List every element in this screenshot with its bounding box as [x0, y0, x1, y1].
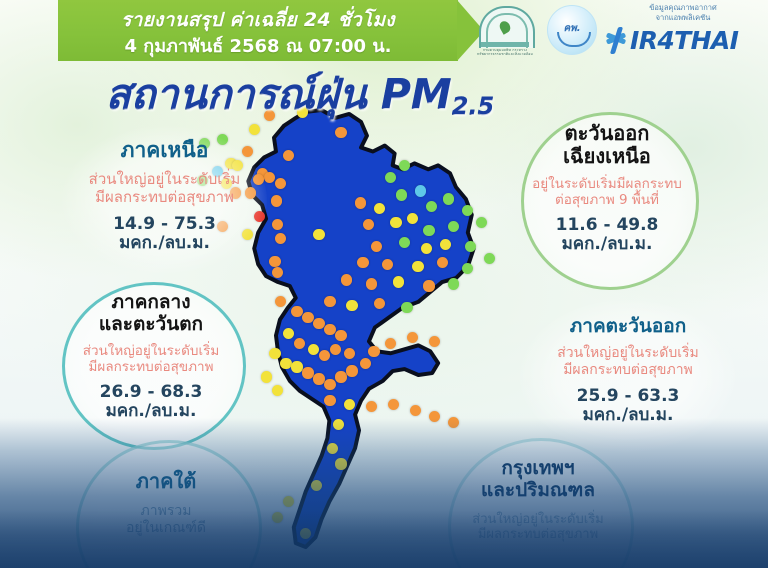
station-dot [360, 358, 371, 369]
east-value-range: 25.9 - 63.3 [518, 387, 738, 406]
northeast-description: อยู่ในระดับเริ่มมีผลกระทบ ต่อสุขภาพ 9 พื… [521, 176, 693, 208]
station-dot [324, 296, 335, 307]
air4thai-logo: IR4THAI [604, 26, 760, 56]
station-dot [462, 263, 473, 274]
station-dot [313, 373, 324, 384]
station-dot [291, 361, 302, 372]
region-panel-northeast: ตะวันออก เฉียงเหนือ อยู่ในระดับเริ่มมีผล… [521, 122, 693, 254]
station-dot [335, 458, 346, 469]
north-description: ส่วนใหญ่อยู่ในระดับเริ่ม มีผลกระทบต่อสุข… [62, 170, 267, 206]
northeast-value-range: 11.6 - 49.8 [521, 216, 693, 235]
ministry-logo-icon: กรมควบคุมมลพิษ กระทรวงทรัพยากรธรรมชาติแล… [477, 4, 533, 54]
air4thai-subtitle-line2: จากแอพพลิเคชัน [608, 13, 758, 23]
northeast-heading: ตะวันออก เฉียงเหนือ [521, 122, 693, 168]
station-dot [443, 193, 454, 204]
logo-group: กรมควบคุมมลพิษ กระทรวงทรัพยากรธรรมชาติแล… [459, 0, 764, 62]
station-dot [346, 365, 357, 376]
north-heading: ภาคเหนือ [62, 138, 267, 162]
station-dot [308, 344, 319, 355]
station-dot [366, 401, 377, 412]
page-title-subscript: 2.5 [452, 92, 495, 120]
north-value-unit: มคก./ลบ.ม. [62, 234, 267, 253]
bangkok-heading-line1: กรุงเทพฯ [440, 458, 636, 480]
air4thai-subtitle-line1: ข้อมูลคุณภาพอากาศ [608, 3, 758, 13]
region-panel-east: ภาคตะวันออก ส่วนใหญ่อยู่ในระดับเริ่ม มีผ… [518, 316, 738, 426]
central-west-heading-line1: ภาคกลาง [57, 292, 245, 314]
station-dot [269, 256, 280, 267]
bangkok-heading: กรุงเทพฯ และปริมณฑล [440, 458, 636, 502]
station-dot [280, 358, 291, 369]
station-dot [368, 346, 379, 357]
station-dot [335, 127, 346, 138]
bangkok-desc-line1: ส่วนใหญ่อยู่ในระดับเริ่ม [440, 512, 636, 528]
station-dot [401, 302, 412, 313]
station-dot [335, 330, 346, 341]
ministry-logo-caption: กรมควบคุมมลพิษ กระทรวงทรัพยากรธรรมชาติแล… [477, 48, 533, 56]
south-description: ภาพรวม อยู่ในเกณฑ์ดี [70, 503, 262, 537]
station-dot [261, 371, 272, 382]
station-dot [344, 399, 355, 410]
region-panel-bangkok: กรุงเทพฯ และปริมณฑล ส่วนใหญ่อยู่ในระดับเ… [440, 458, 636, 543]
report-banner: รายงานสรุป ค่าเฉลี่ย 24 ชั่วโมง 4 กุมภาพ… [58, 0, 458, 61]
station-dot [484, 253, 495, 264]
north-desc-line2: มีผลกระทบต่อสุขภาพ [62, 188, 267, 206]
station-dot [393, 276, 404, 287]
south-desc-line1: ภาพรวม [70, 503, 262, 520]
station-dot [385, 172, 396, 183]
station-dot [341, 274, 352, 285]
station-dot [319, 350, 330, 361]
region-panel-south: ภาคใต้ ภาพรวม อยู่ในเกณฑ์ดี [70, 470, 262, 537]
bangkok-desc-line2: มีผลกระทบต่อสุขภาพ [440, 527, 636, 543]
station-dot [324, 324, 335, 335]
banner-datetime: 4 กุมภาพันธ์ 2568 ณ 07:00 น. [58, 31, 458, 60]
station-dot [330, 344, 341, 355]
east-heading: ภาคตะวันออก [518, 316, 738, 338]
infographic-root: รายงานสรุป ค่าเฉลี่ย 24 ชั่วโมง 4 กุมภาพ… [0, 0, 768, 568]
station-dot [399, 160, 410, 171]
smile-icon [557, 32, 591, 47]
station-dot [324, 379, 335, 390]
central-west-value-range: 26.9 - 68.3 [57, 383, 245, 402]
station-dot [269, 348, 280, 359]
south-desc-line2: อยู่ในเกณฑ์ดี [70, 520, 262, 537]
station-dot [465, 241, 476, 252]
station-dot [335, 371, 346, 382]
bangkok-description: ส่วนใหญ่อยู่ในระดับเริ่ม มีผลกระทบต่อสุข… [440, 512, 636, 543]
station-dot [313, 229, 324, 240]
northeast-heading-line2: เฉียงเหนือ [521, 145, 693, 168]
station-dot [423, 280, 434, 291]
station-dot [313, 318, 324, 329]
south-heading: ภาคใต้ [70, 470, 262, 493]
station-dot [357, 257, 368, 268]
station-dot [355, 197, 366, 208]
station-dot [346, 300, 357, 311]
central-west-value: 26.9 - 68.3 มคก./ลบ.ม. [57, 383, 245, 421]
central-west-heading-line2: และตะวันตก [57, 314, 245, 336]
station-dot [440, 239, 451, 250]
station-dot [399, 237, 410, 248]
station-dot [396, 189, 407, 200]
region-panel-north: ภาคเหนือ ส่วนใหญ่อยู่ในระดับเริ่ม มีผลกร… [62, 138, 267, 253]
station-dot [407, 332, 418, 343]
station-dot [366, 278, 377, 289]
east-desc-line2: มีผลกระทบต่อสุขภาพ [518, 362, 738, 379]
central-west-desc-line1: ส่วนใหญ่อยู่ในระดับเริ่ม [57, 343, 245, 359]
east-desc-line1: ส่วนใหญ่อยู่ในระดับเริ่ม [518, 345, 738, 362]
station-dot [423, 225, 434, 236]
pcd-logo-icon: คพ. [547, 5, 597, 55]
east-value-unit: มคก./ลบ.ม. [518, 406, 738, 425]
station-dot [333, 419, 344, 430]
north-value-range: 14.9 - 75.3 [62, 215, 267, 234]
station-dot [476, 217, 487, 228]
north-value: 14.9 - 75.3 มคก./ลบ.ม. [62, 215, 267, 253]
central-west-heading: ภาคกลาง และตะวันตก [57, 292, 245, 336]
east-description: ส่วนใหญ่อยู่ในระดับเริ่ม มีผลกระทบต่อสุข… [518, 345, 738, 379]
station-dot [410, 405, 421, 416]
station-dot [412, 261, 423, 272]
logo-base [481, 42, 529, 47]
northeast-value: 11.6 - 49.8 มคก./ลบ.ม. [521, 216, 693, 254]
central-west-description: ส่วนใหญ่อยู่ในระดับเริ่ม มีผลกระทบต่อสุข… [57, 343, 245, 375]
station-dot [344, 348, 355, 359]
station-dot [429, 336, 440, 347]
station-dot [448, 278, 459, 289]
air4thai-a-icon [604, 27, 632, 54]
air4thai-subtitle: ข้อมูลคุณภาพอากาศ จากแอพพลิเคชัน [608, 3, 758, 23]
station-dot [415, 185, 426, 196]
air4thai-brand-text: IR4THAI [630, 26, 738, 55]
station-dot [421, 243, 432, 254]
station-dot [324, 395, 335, 406]
region-panel-central-west: ภาคกลาง และตะวันตก ส่วนใหญ่อยู่ในระดับเร… [57, 292, 245, 421]
page-title: สถานการณ์ฝุ่น PM2.5 [0, 62, 600, 127]
north-desc-line1: ส่วนใหญ่อยู่ในระดับเริ่ม [62, 170, 267, 188]
station-dot [272, 267, 283, 278]
northeast-desc-line1: อยู่ในระดับเริ่มมีผลกระทบ [521, 176, 693, 192]
station-dot [300, 528, 311, 539]
station-dot [291, 306, 302, 317]
central-west-desc-line2: มีผลกระทบต่อสุขภาพ [57, 359, 245, 375]
station-dot [275, 178, 286, 189]
station-dot [302, 367, 313, 378]
east-value: 25.9 - 63.3 มคก./ลบ.ม. [518, 387, 738, 425]
station-dot [271, 195, 282, 206]
station-dot [385, 338, 396, 349]
northeast-desc-line2: ต่อสุขภาพ 9 พื้นที่ [521, 192, 693, 208]
station-dot [302, 312, 313, 323]
northeast-value-unit: มคก./ลบ.ม. [521, 235, 693, 254]
page-title-main: สถานการณ์ฝุ่น PM [106, 70, 452, 118]
station-dot [390, 217, 401, 228]
central-west-value-unit: มคก./ลบ.ม. [57, 402, 245, 421]
bangkok-heading-line2: และปริมณฑล [440, 480, 636, 502]
station-dot [327, 443, 338, 454]
station-dot [388, 399, 399, 410]
